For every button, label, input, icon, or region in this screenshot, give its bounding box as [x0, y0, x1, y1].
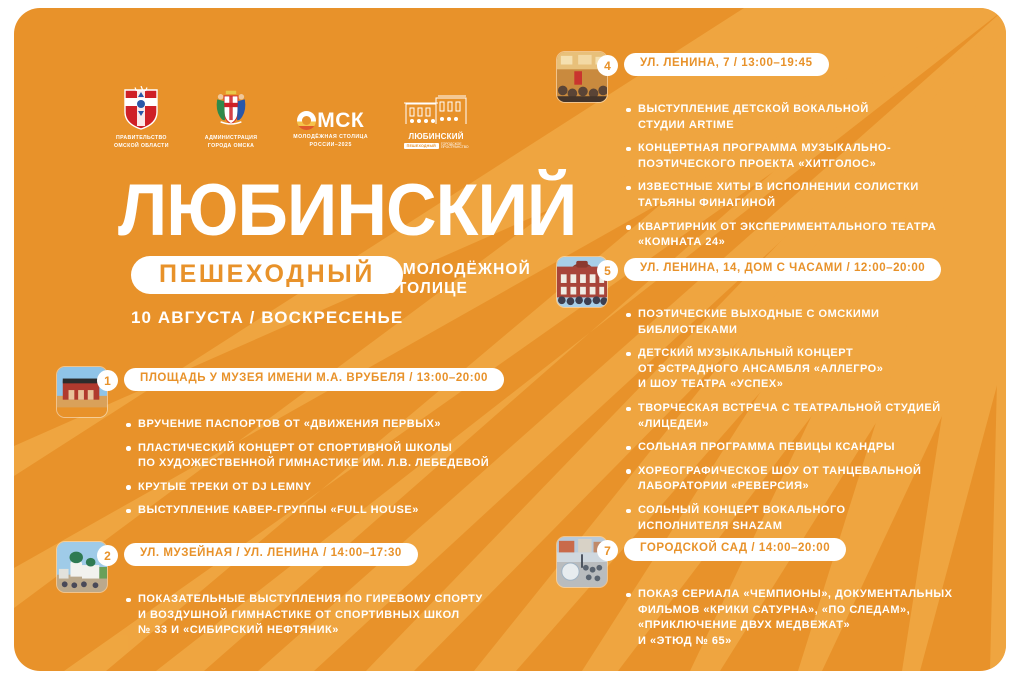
- event-block-7-list: ПОКАЗ СЕРИАЛА «ЧЕМПИОНЫ», ДОКУМЕНТАЛЬНЫХ…: [624, 587, 953, 649]
- event-block-5-header: 5 УЛ. ЛЕНИНА, 14, ДОМ С ЧАСАМИ / 12:00–2…: [556, 256, 941, 300]
- list-item: ПОКАЗАТЕЛЬНЫЕ ВЫСТУПЛЕНИЯ ПО ГИРЕВОМУ СП…: [124, 592, 483, 639]
- list-item: СОЛЬНЫЙ КОНЦЕРТ ВОКАЛЬНОГО ИСПОЛНИТЕЛЯ S…: [624, 503, 941, 534]
- list-item: ДЕТСКИЙ МУЗЫКАЛЬНЫЙ КОНЦЕРТ ОТ ЭСТРАДНОГ…: [624, 346, 941, 393]
- list-item: ВРУЧЕНИЕ ПАСПОРТОВ ОТ «ДВИЖЕНИЯ ПЕРВЫХ»: [124, 417, 489, 433]
- omsk-city-administration-caption: АДМИНИСТРАЦИЯ ГОРОДА ОМСКА: [205, 135, 258, 150]
- partner-logos-row: ПРАВИТЕЛЬСТВО ОМСКОЙ ОБЛАСТИ АДМИНИСТРАЦ…: [114, 86, 468, 150]
- lyubinsky-tagline-row: ПЕШЕХОДНЫЙ ГОРОДСКОЕ ПРОСТРАНСТВО: [404, 143, 468, 150]
- event-block-2-header: 2 УЛ. МУЗЕЙНАЯ / УЛ. ЛЕНИНА / 14:00–17:3…: [56, 541, 483, 585]
- omsk-region-government-caption: ПРАВИТЕЛЬСТВО ОМСКОЙ ОБЛАСТИ: [114, 135, 169, 150]
- lyubinsky-space-caption: ГОРОДСКОЕ ПРОСТРАНСТВО: [441, 143, 469, 150]
- list-item: ПОЭТИЧЕСКИЕ ВЫХОДНЫЕ С ОМСКИМИ БИБЛИОТЕК…: [624, 307, 941, 338]
- subtitle: В МОЛОДЁЖНОЙ СТОЛИЦЕ: [385, 260, 531, 299]
- list-item: ПЛАСТИЧЕСКИЙ КОНЦЕРТ ОТ СПОРТИВНОЙ ШКОЛЫ…: [124, 441, 489, 472]
- omsk-wordmark-text: МСК: [317, 110, 364, 131]
- event-block-7-header: 7 ГОРОДСКОЙ САД / 14:00–20:00: [556, 536, 953, 580]
- lyubinsky-wordmark: ЛЮБИНСКИЙ: [404, 132, 468, 141]
- lyubinsky-pedestrian-badge: ПЕШЕХОДНЫЙ: [404, 143, 439, 149]
- event-block-4-list: ВЫСТУПЛЕНИЕ ДЕТСКОЙ ВОКАЛЬНОЙ СТУДИИ ART…: [624, 102, 936, 251]
- event-block-7-number: 7: [597, 540, 618, 561]
- event-date: 10 АВГУСТА / ВОСКРЕСЕНЬЕ: [131, 308, 403, 328]
- omsk-city-coat-of-arms-icon: [212, 86, 250, 130]
- list-item: КВАРТИРНИК ОТ ЭКСПЕРИМЕНТАЛЬНОГО ТЕАТРА …: [624, 220, 936, 251]
- event-block-5-list: ПОЭТИЧЕСКИЕ ВЫХОДНЫЕ С ОМСКИМИ БИБЛИОТЕК…: [624, 307, 941, 534]
- omsk-region-coat-of-arms-icon: [122, 86, 160, 130]
- list-item: ПОКАЗ СЕРИАЛА «ЧЕМПИОНЫ», ДОКУМЕНТАЛЬНЫХ…: [624, 587, 953, 649]
- list-item: КРУТЫЕ ТРЕКИ ОТ DJ LEMNY: [124, 480, 489, 496]
- event-block-1-list: ВРУЧЕНИЕ ПАСПОРТОВ ОТ «ДВИЖЕНИЯ ПЕРВЫХ» …: [124, 417, 489, 519]
- event-block-5-number: 5: [597, 260, 618, 281]
- event-block-2-venue: УЛ. МУЗЕЙНАЯ / УЛ. ЛЕНИНА / 14:00–17:30: [124, 543, 418, 566]
- lyubinsky-logo: ЛЮБИНСКИЙ ПЕШЕХОДНЫЙ ГОРОДСКОЕ ПРОСТРАНС…: [404, 92, 468, 150]
- list-item: КОНЦЕРТНАЯ ПРОГРАММА МУЗЫКАЛЬНО- ПОЭТИЧЕ…: [624, 141, 936, 172]
- event-block-2-list: ПОКАЗАТЕЛЬНЫЕ ВЫСТУПЛЕНИЯ ПО ГИРЕВОМУ СП…: [124, 592, 483, 639]
- event-block-4-header: 4 УЛ. ЛЕНИНА, 7 / 13:00–19:45: [556, 51, 936, 95]
- event-block-1-header: 1 ПЛОЩАДЬ У МУЗЕЯ ИМЕНИ М.А. ВРУБЕЛЯ / 1…: [56, 366, 489, 410]
- event-block-2-number: 2: [97, 545, 118, 566]
- omsk-city-administration-logo: АДМИНИСТРАЦИЯ ГОРОДА ОМСКА: [205, 86, 258, 150]
- event-block-1: 1 ПЛОЩАДЬ У МУЗЕЯ ИМЕНИ М.А. ВРУБЕЛЯ / 1…: [56, 366, 489, 527]
- event-block-4-number: 4: [597, 55, 618, 76]
- list-item: ТВОРЧЕСКАЯ ВСТРЕЧА С ТЕАТРАЛЬНОЙ СТУДИЕЙ…: [624, 401, 941, 432]
- pedestrian-badge: ПЕШЕХОДНЫЙ: [131, 256, 403, 294]
- event-poster: ПРАВИТЕЛЬСТВО ОМСКОЙ ОБЛАСТИ АДМИНИСТРАЦ…: [14, 8, 1006, 671]
- event-block-1-number: 1: [97, 370, 118, 391]
- event-block-7-venue: ГОРОДСКОЙ САД / 14:00–20:00: [624, 538, 846, 561]
- list-item: ХОРЕОГРАФИЧЕСКОЕ ШОУ ОТ ТАНЦЕВАЛЬНОЙ ЛАБ…: [624, 464, 941, 495]
- omsk-sun-o-icon: [297, 111, 316, 130]
- list-item: СОЛЬНАЯ ПРОГРАММА ПЕВИЦЫ КСАНДРЫ: [624, 440, 941, 456]
- event-block-4: 4 УЛ. ЛЕНИНА, 7 / 13:00–19:45 ВЫСТУПЛЕНИ…: [556, 51, 936, 259]
- event-block-5-venue: УЛ. ЛЕНИНА, 14, ДОМ С ЧАСАМИ / 12:00–20:…: [624, 258, 941, 281]
- page-title: ЛЮБИНСКИЙ: [118, 176, 576, 245]
- list-item: ВЫСТУПЛЕНИЕ КАВЕР-ГРУППЫ «FULL HOUSE»: [124, 503, 489, 519]
- event-block-5: 5 УЛ. ЛЕНИНА, 14, ДОМ С ЧАСАМИ / 12:00–2…: [556, 256, 941, 542]
- omsk-youth-capital-caption: МОЛОДЁЖНАЯ СТОЛИЦА РОССИИ–2025: [293, 134, 368, 150]
- omsk-region-government-logo: ПРАВИТЕЛЬСТВО ОМСКОЙ ОБЛАСТИ: [114, 86, 169, 150]
- event-block-4-venue: УЛ. ЛЕНИНА, 7 / 13:00–19:45: [624, 53, 829, 76]
- omsk-youth-capital-logo: МСК МОЛОДЁЖНАЯ СТОЛИЦА РОССИИ–2025: [293, 110, 368, 150]
- list-item: ВЫСТУПЛЕНИЕ ДЕТСКОЙ ВОКАЛЬНОЙ СТУДИИ ART…: [624, 102, 936, 133]
- lyubinsky-building-icon: [404, 92, 468, 126]
- event-block-2: 2 УЛ. МУЗЕЙНАЯ / УЛ. ЛЕНИНА / 14:00–17:3…: [56, 541, 483, 647]
- event-block-1-venue: ПЛОЩАДЬ У МУЗЕЯ ИМЕНИ М.А. ВРУБЕЛЯ / 13:…: [124, 368, 504, 391]
- list-item: ИЗВЕСТНЫЕ ХИТЫ В ИСПОЛНЕНИИ СОЛИСТКИ ТАТ…: [624, 180, 936, 211]
- omsk-wordmark: МСК: [297, 110, 364, 131]
- event-block-7: 7 ГОРОДСКОЙ САД / 14:00–20:00 ПОКАЗ СЕРИ…: [556, 536, 953, 657]
